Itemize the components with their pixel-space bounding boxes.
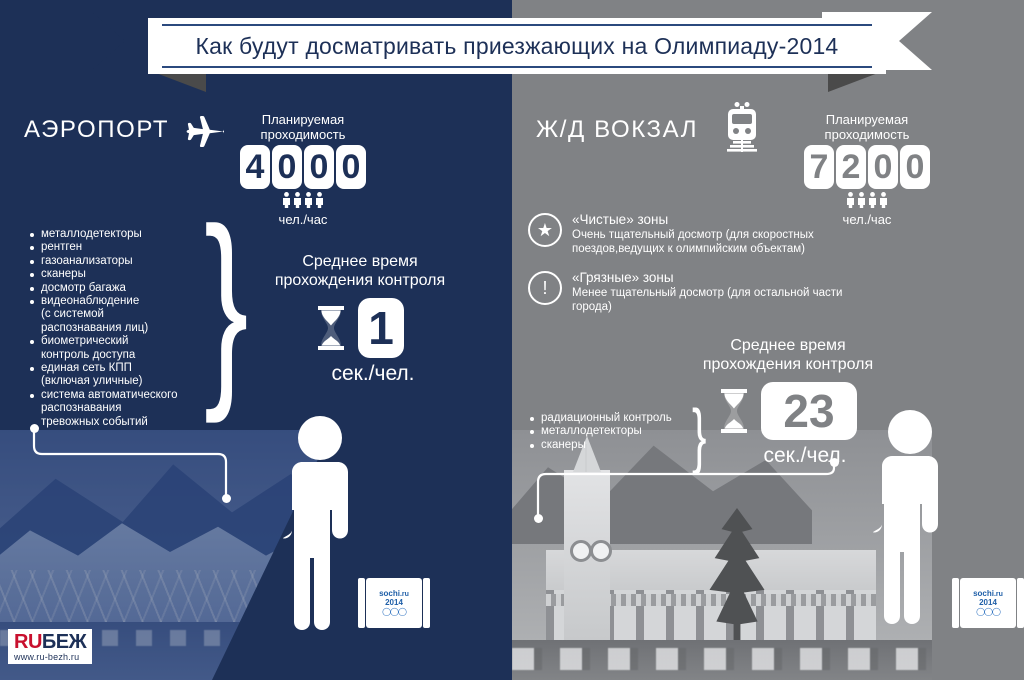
railway-person-pictogram bbox=[862, 408, 958, 624]
photo-clock-face-2 bbox=[590, 540, 612, 562]
exclamation-icon: ! bbox=[528, 271, 562, 305]
list-item: металлодетекторы bbox=[530, 425, 695, 438]
airport-checks-list: металлодетекторы рентген газоанализаторы… bbox=[30, 228, 210, 429]
logo-wordmark: RUБЕЖ bbox=[14, 632, 86, 652]
person-icon bbox=[846, 192, 855, 208]
list-item: биометрический bbox=[30, 335, 210, 348]
zone-heading: «Чистые» зоны bbox=[572, 212, 858, 228]
photo-cars bbox=[512, 648, 932, 670]
airport-throughput: Планируемая проходимость 4 0 0 0 чел./ча… bbox=[236, 112, 370, 227]
star-glyph: ★ bbox=[537, 221, 553, 239]
railway-connector-line bbox=[530, 460, 850, 530]
airplane-icon bbox=[180, 108, 228, 152]
throughput-digit: 0 bbox=[900, 145, 930, 189]
zone-dirty: ! «Грязные» зоны Менее тщательный досмот… bbox=[528, 270, 858, 314]
person-icon bbox=[868, 192, 877, 208]
sochi-logo-line1: sochi bbox=[379, 589, 400, 598]
throughput-digit: 2 bbox=[836, 145, 866, 189]
railway-zones: ★ «Чистые» зоны Очень тщательный досмотр… bbox=[528, 212, 858, 328]
infographic-poster: Как будут досматривать приезжающих на Ол… bbox=[0, 0, 1024, 680]
sochi-logo-line2: 2014 bbox=[385, 599, 403, 607]
suitcase-strap-left bbox=[358, 578, 365, 628]
throughput-label: Планируемая проходимость bbox=[800, 112, 934, 142]
connector-dot-start bbox=[30, 424, 39, 433]
airport-section-title: АЭРОПОРТ bbox=[24, 116, 169, 144]
logo-url: www.ru-bezh.ru bbox=[14, 652, 86, 662]
throughput-units: чел./час bbox=[236, 212, 370, 227]
person-icon bbox=[304, 192, 313, 208]
suitcase-strap-right bbox=[1017, 578, 1024, 628]
zone-clean: ★ «Чистые» зоны Очень тщательный досмотр… bbox=[528, 212, 858, 256]
list-item: сканеры bbox=[30, 268, 210, 281]
people-icons bbox=[236, 192, 370, 208]
list-item: досмотр багажа bbox=[30, 282, 210, 295]
title-ribbon: Как будут досматривать приезжающих на Ол… bbox=[0, 0, 1024, 92]
railway-throughput: Планируемая проходимость 7 2 0 0 чел./ча… bbox=[800, 112, 934, 227]
sochi-logo-suffix: .ru bbox=[994, 591, 1003, 598]
list-item: рентген bbox=[30, 241, 210, 254]
publisher-logo[interactable]: RUБЕЖ www.ru-bezh.ru bbox=[8, 629, 92, 664]
sochi-logo-suffix: .ru bbox=[400, 591, 409, 598]
connector-dot-end bbox=[222, 494, 231, 503]
throughput-digit: 7 bbox=[804, 145, 834, 189]
logo-ru: RU bbox=[14, 631, 42, 653]
olympic-rings-icon: ◯◯◯ bbox=[976, 607, 1000, 616]
star-icon: ★ bbox=[528, 213, 562, 247]
airport-average-time: Среднее время прохождения контроля 1 сек… bbox=[262, 252, 458, 386]
list-item-continuation: (включая уличные) bbox=[30, 375, 210, 388]
railway-section-title: Ж/Д ВОКЗАЛ bbox=[536, 116, 698, 144]
person-icon bbox=[282, 192, 291, 208]
average-time-title: Среднее время прохождения контроля bbox=[262, 252, 458, 290]
people-icons bbox=[800, 192, 934, 208]
list-item: единая сеть КПП bbox=[30, 362, 210, 375]
throughput-digit: 0 bbox=[336, 145, 366, 189]
average-time-units: сек./чел. bbox=[288, 362, 458, 386]
list-item-continuation: контроль доступа bbox=[30, 349, 210, 362]
list-item: металлодетекторы bbox=[30, 228, 210, 241]
average-time-value: 1 bbox=[358, 298, 404, 358]
throughput-digits: 4 0 0 0 bbox=[236, 145, 370, 189]
average-time-row: 1 bbox=[262, 298, 458, 358]
average-time-value: 23 bbox=[761, 382, 857, 440]
hourglass-icon bbox=[316, 306, 346, 350]
suitcase-body: sochi.ru 2014 ◯◯◯ bbox=[366, 578, 422, 628]
throughput-digit: 0 bbox=[868, 145, 898, 189]
list-item-continuation: распознавания лиц) bbox=[30, 322, 210, 335]
ribbon-band: Как будут досматривать приезжающих на Ол… bbox=[148, 18, 886, 74]
list-item: видеонаблюдение bbox=[30, 295, 210, 308]
throughput-digits: 7 2 0 0 bbox=[800, 145, 934, 189]
list-item: система автоматического bbox=[30, 389, 210, 402]
logo-bezh: БЕЖ bbox=[42, 631, 86, 653]
suitcase-body: sochi.ru 2014 ◯◯◯ bbox=[960, 578, 1016, 628]
railway-suitcase-icon: sochi.ru 2014 ◯◯◯ bbox=[952, 574, 1024, 630]
sochi-logo-line2: 2014 bbox=[979, 599, 997, 607]
average-time-row: 23 bbox=[690, 382, 886, 440]
list-item: радиационный контроль bbox=[530, 412, 695, 425]
person-icon bbox=[293, 192, 302, 208]
olympic-rings-icon: ◯◯◯ bbox=[382, 607, 406, 616]
connector-dot-end bbox=[830, 458, 839, 467]
list-item-continuation: (с системой bbox=[30, 308, 210, 321]
airport-person-pictogram bbox=[272, 414, 368, 630]
zone-description: Очень тщательный досмотр (для скоростных… bbox=[572, 229, 858, 256]
train-icon bbox=[720, 102, 764, 154]
sochi-logo-line1: sochi bbox=[973, 589, 994, 598]
person-icon bbox=[879, 192, 888, 208]
throughput-label: Планируемая проходимость bbox=[236, 112, 370, 142]
list-item: газоанализаторы bbox=[30, 255, 210, 268]
railway-checks-list: радиационный контроль металлодетекторы с… bbox=[530, 412, 695, 452]
airport-brace-icon: } bbox=[204, 196, 249, 411]
person-icon bbox=[857, 192, 866, 208]
average-time-title: Среднее время прохождения контроля bbox=[690, 336, 886, 374]
exclamation-glyph: ! bbox=[542, 279, 547, 297]
list-item: сканеры bbox=[530, 439, 695, 452]
zone-description: Менее тщательный досмотр (для остальной … bbox=[572, 287, 858, 314]
person-icon bbox=[315, 192, 324, 208]
connector-dot-start bbox=[534, 514, 543, 523]
throughput-digit: 0 bbox=[272, 145, 302, 189]
airport-suitcase-icon: sochi.ru 2014 ◯◯◯ bbox=[358, 574, 430, 630]
suitcase-strap-right bbox=[423, 578, 430, 628]
page-title: Как будут досматривать приезжающих на Ол… bbox=[196, 33, 839, 60]
throughput-digit: 0 bbox=[304, 145, 334, 189]
railway-average-time: Среднее время прохождения контроля 23 се… bbox=[690, 336, 886, 468]
list-item-continuation: распознавания bbox=[30, 402, 210, 415]
hourglass-icon bbox=[719, 389, 749, 433]
photo-clock-face bbox=[570, 540, 592, 562]
zone-heading: «Грязные» зоны bbox=[572, 270, 858, 286]
suitcase-strap-left bbox=[952, 578, 959, 628]
